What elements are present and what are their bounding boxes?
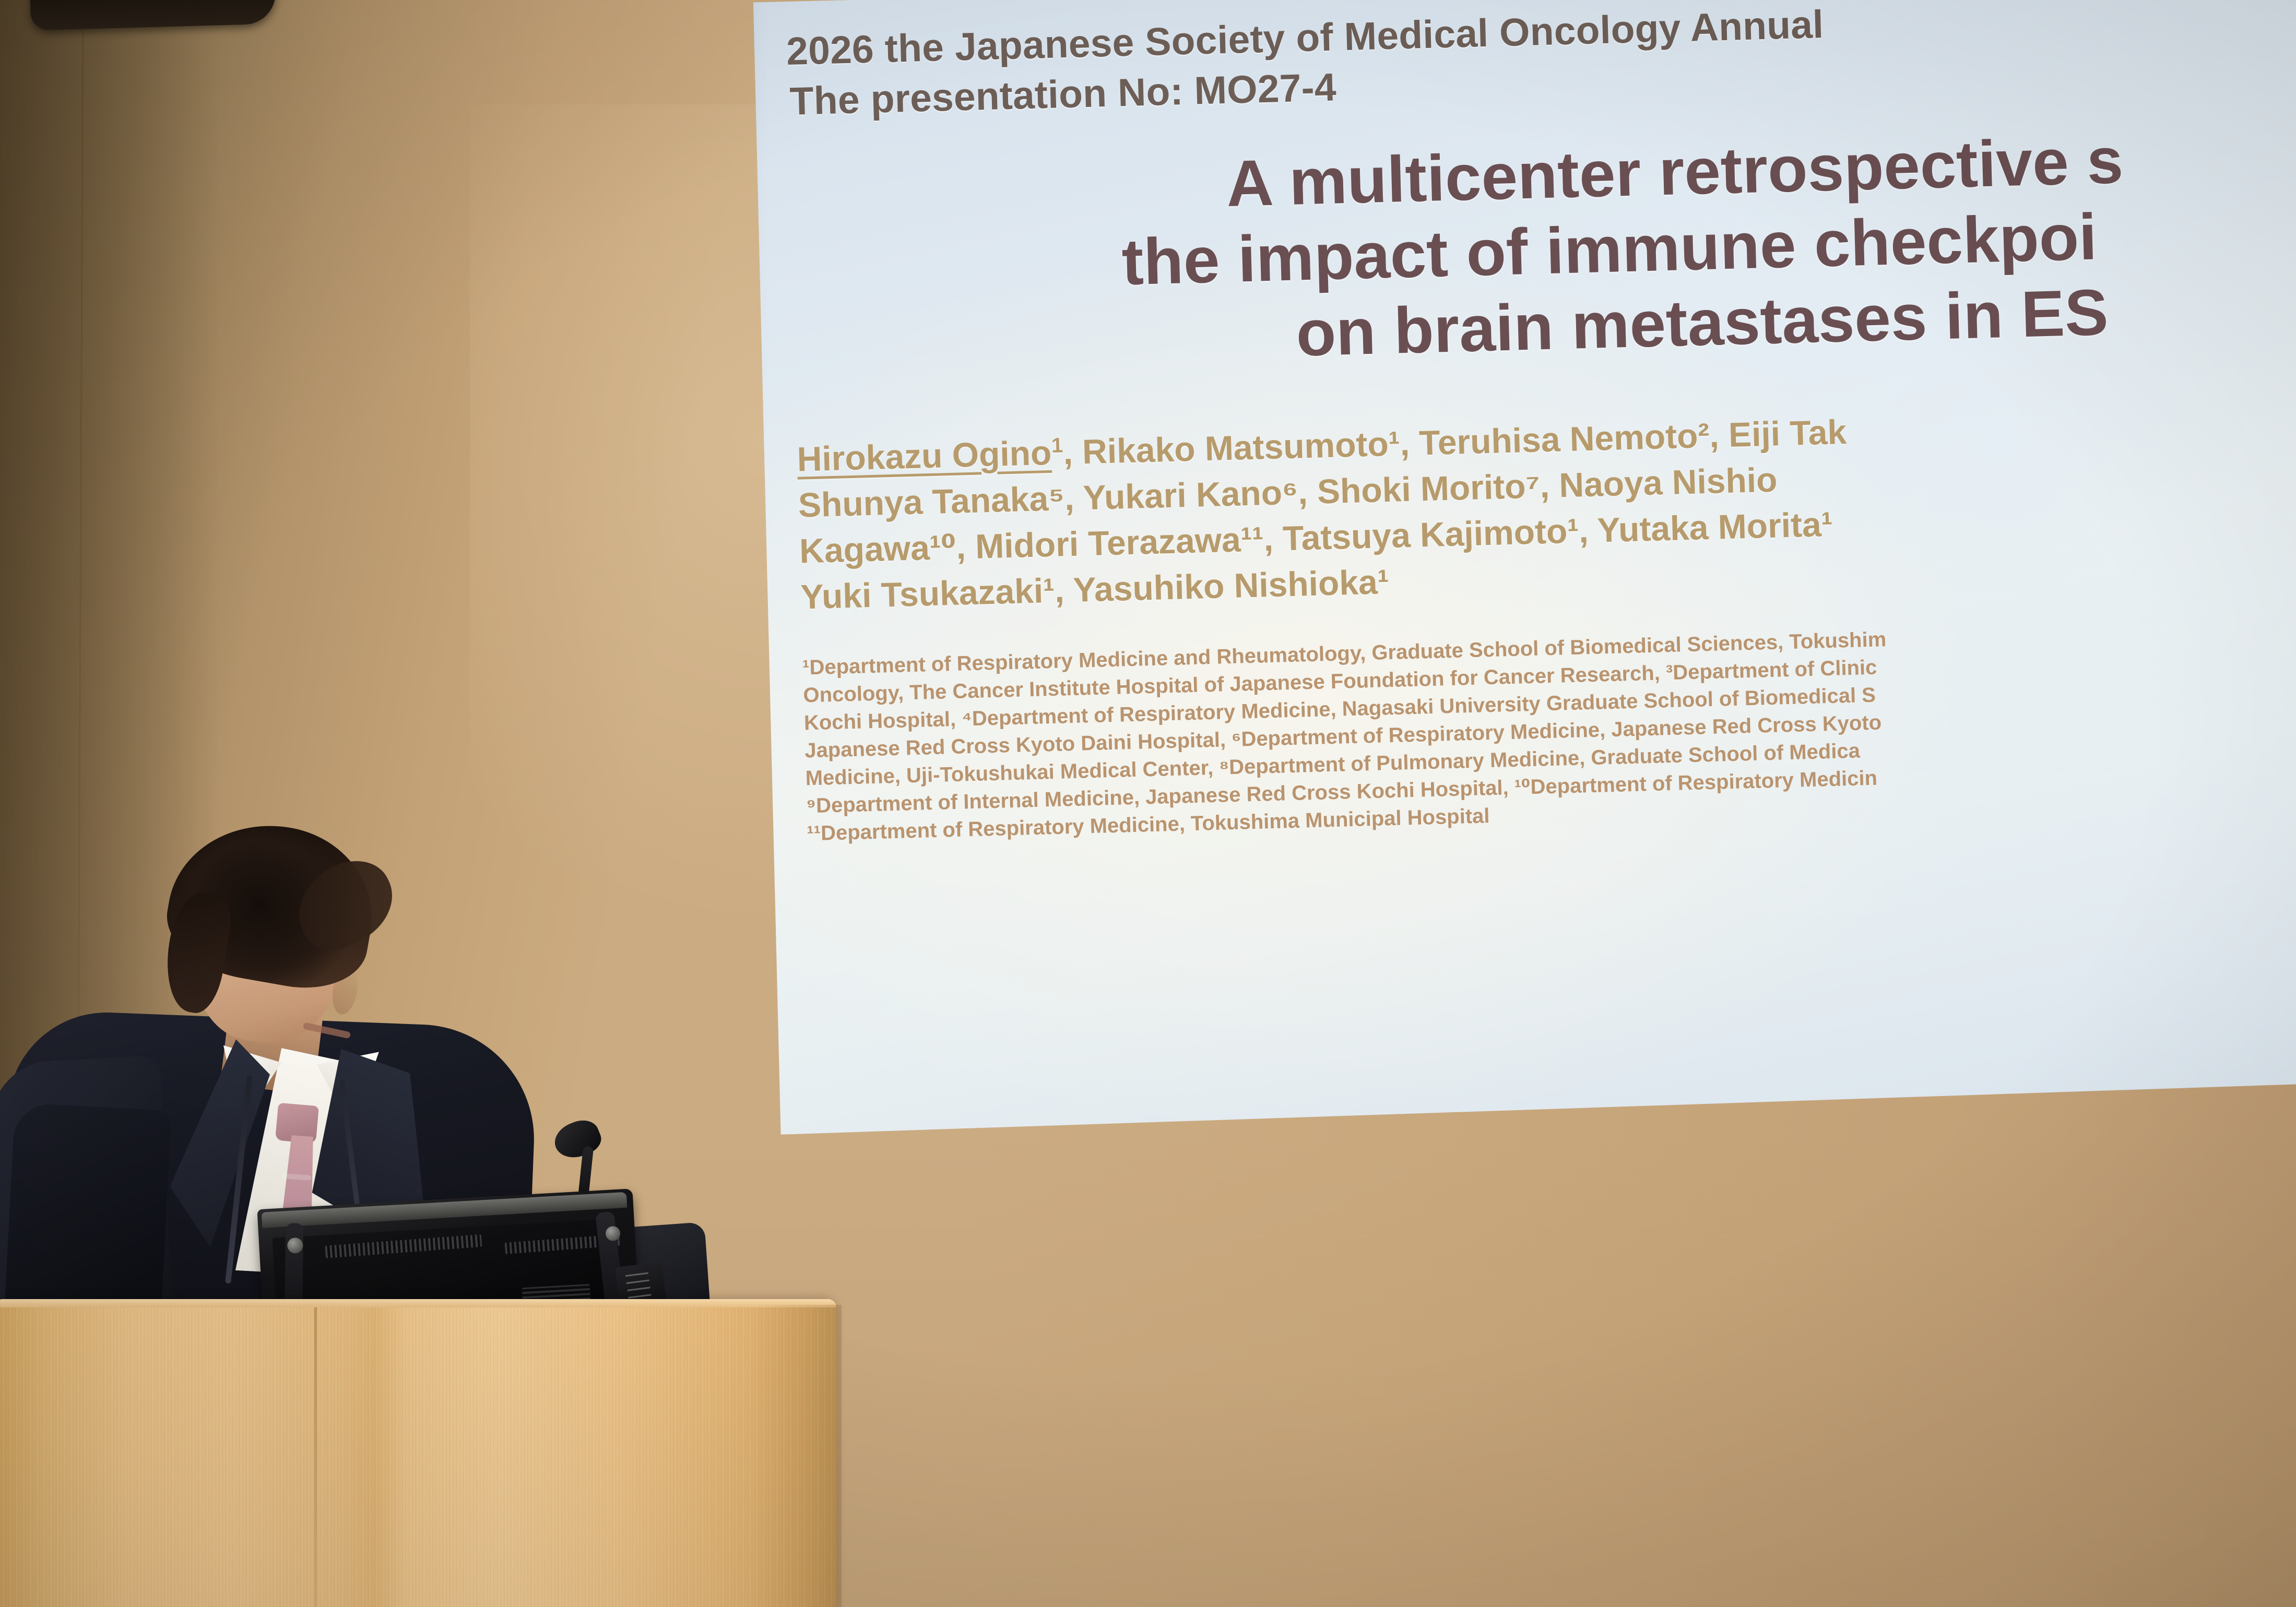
podium-wood-grain (0, 1299, 836, 1607)
podium-panel-seam (314, 1299, 317, 1607)
slide-title: A multicenter retrospective s the impact… (789, 116, 2296, 385)
affiliation-list: ¹Department of Respiratory Medicine and … (802, 612, 2296, 848)
presentation-photo: 2026 the Japanese Society of Medical Onc… (0, 0, 2296, 1607)
podium-right-shading (752, 1305, 842, 1607)
presenting-author-affiliation-marker: 1 (1051, 434, 1063, 457)
author-list: Hirokazu Ogino1, Rikako Matsumoto¹, Teru… (796, 388, 2296, 620)
projection-screen: 2026 the Japanese Society of Medical Onc… (739, 0, 2296, 1180)
slide-content: 2026 the Japanese Society of Medical Onc… (786, 0, 2296, 848)
lectern-podium (0, 1299, 836, 1607)
presenting-author-name: Hirokazu Ogino (797, 433, 1052, 479)
speaker-arm-left (4, 1102, 172, 1329)
podium-top-edge (0, 1299, 836, 1307)
